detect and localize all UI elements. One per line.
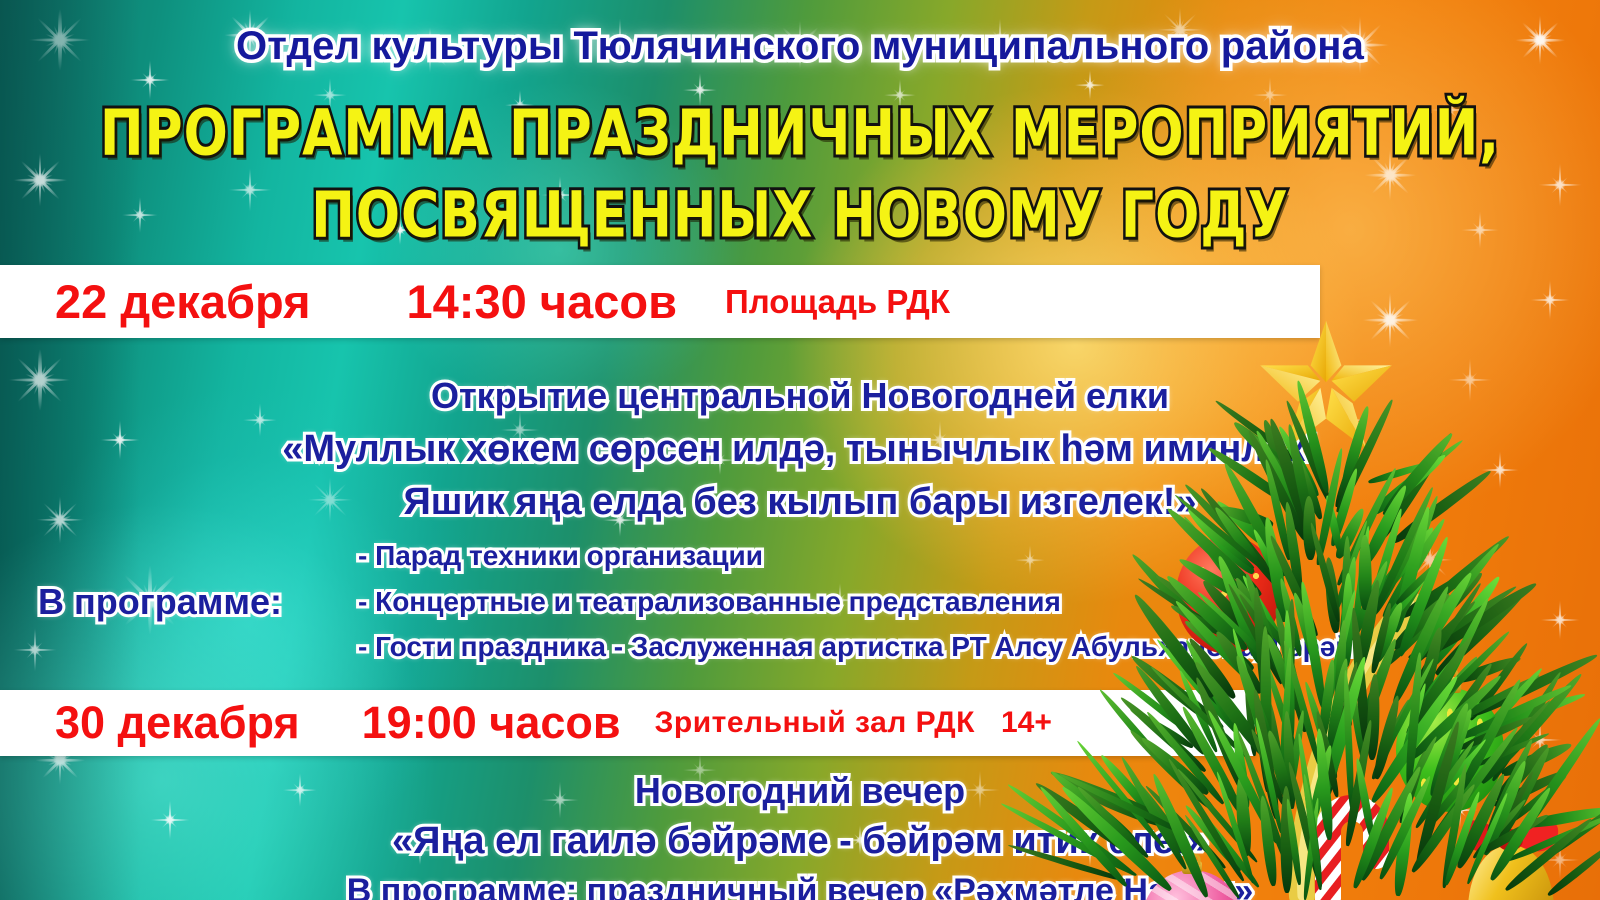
event-2-time: 19:00 часов — [362, 697, 621, 749]
headline-line-1: ПРОГРАММА ПРАЗДНИЧНЫХ МЕРОПРИЯТИЙ, — [0, 97, 1600, 170]
event-1-time: 14:30 часов — [407, 274, 677, 329]
headline-line-2: ПОСВЯЩЕННЫХ НОВОМУ ГОДУ — [0, 179, 1600, 252]
event-1-place: Площадь РДК — [725, 283, 950, 321]
organization-title: Отдел культуры Тюлячинского муниципально… — [0, 24, 1600, 69]
event-2-place: Зрительный зал РДК — [655, 706, 975, 740]
new-year-event-poster: Отдел культуры Тюлячинского муниципально… — [0, 0, 1600, 900]
christmas-tree-decoration — [1150, 300, 1600, 900]
event-2-banner: 30 декабря 19:00 часов Зрительный зал РД… — [0, 690, 1255, 756]
event-1-banner: 22 декабря 14:30 часов Площадь РДК — [0, 265, 1320, 338]
program-item-1: - Парад техники организации — [358, 540, 763, 572]
event-2-date: 30 декабря — [55, 697, 300, 749]
event-2-age-rating: 14+ — [1001, 706, 1052, 740]
program-label: В программе: — [38, 581, 282, 623]
event-1-date: 22 декабря — [55, 274, 311, 329]
program-item-2: - Концертные и театрализованные представ… — [358, 586, 1061, 618]
